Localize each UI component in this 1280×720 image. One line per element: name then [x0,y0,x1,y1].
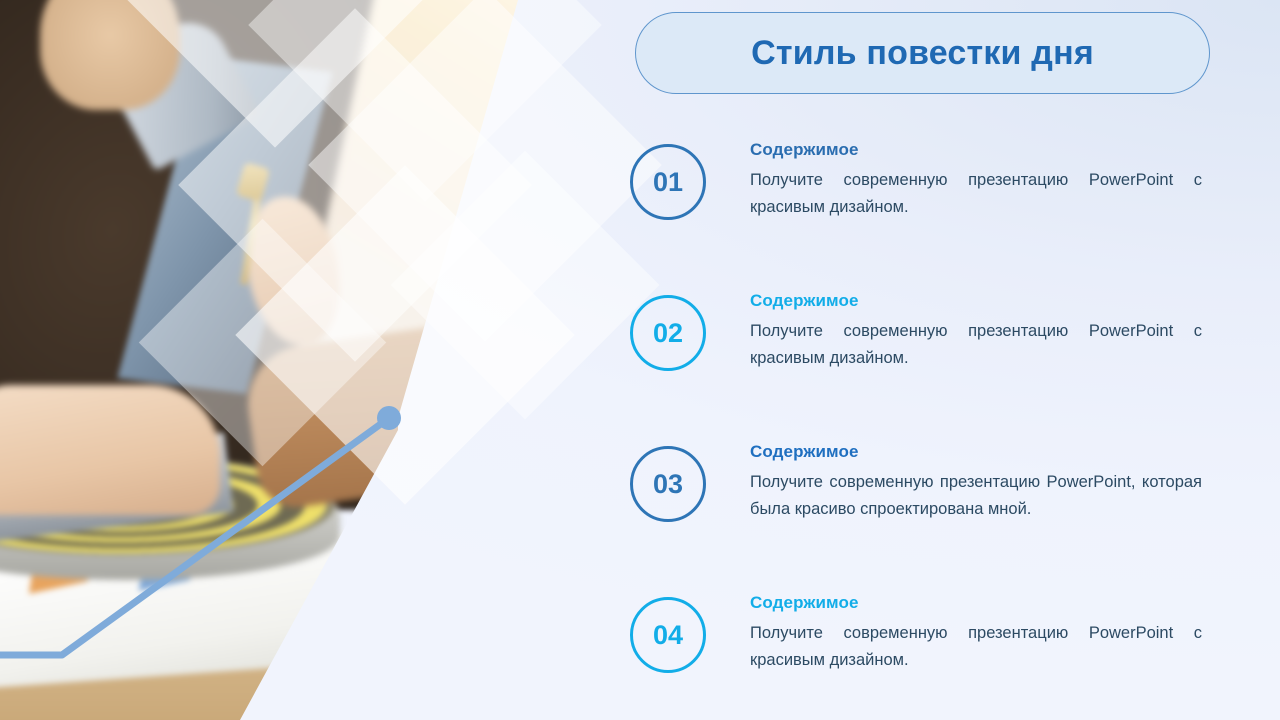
agenda-text-block: Содержимое Получите современную презента… [750,442,1210,523]
title-pill: Стиль повестки дня [635,12,1210,94]
agenda-number: 01 [653,167,683,198]
agenda-number-badge: 04 [630,597,706,673]
agenda-list: 01 Содержимое Получите современную презе… [630,140,1230,720]
agenda-item-02[interactable]: 02 Содержимое Получите современную презе… [630,291,1230,442]
agenda-text-block: Содержимое Получите современную презента… [750,140,1210,221]
agenda-body: Получите современную презентацию PowerPo… [750,167,1202,221]
agenda-number: 02 [653,318,683,349]
agenda-text-block: Содержимое Получите современную презента… [750,291,1210,372]
agenda-item-01[interactable]: 01 Содержимое Получите современную презе… [630,140,1230,291]
agenda-number-badge: 01 [630,144,706,220]
agenda-number-badge: 02 [630,295,706,371]
agenda-number-badge: 03 [630,446,706,522]
agenda-number: 03 [653,469,683,500]
agenda-body: Получите современную презентацию PowerPo… [750,620,1202,674]
page-title: Стиль повестки дня [751,34,1094,73]
agenda-heading: Содержимое [750,442,1210,462]
agenda-heading: Содержимое [750,291,1210,311]
agenda-heading: Содержимое [750,140,1210,160]
agenda-item-04[interactable]: 04 Содержимое Получите современную презе… [630,593,1230,720]
agenda-text-block: Содержимое Получите современную презента… [750,593,1210,674]
agenda-heading: Содержимое [750,593,1210,613]
agenda-item-03[interactable]: 03 Содержимое Получите современную презе… [630,442,1230,593]
blue-dot-marker [377,406,401,430]
agenda-body: Получите современную презентацию PowerPo… [750,469,1202,523]
blue-accent-line [0,0,700,720]
agenda-slide: Стиль повестки дня 01 Содержимое Получит… [0,0,1280,720]
agenda-body: Получите современную презентацию PowerPo… [750,318,1202,372]
agenda-number: 04 [653,620,683,651]
